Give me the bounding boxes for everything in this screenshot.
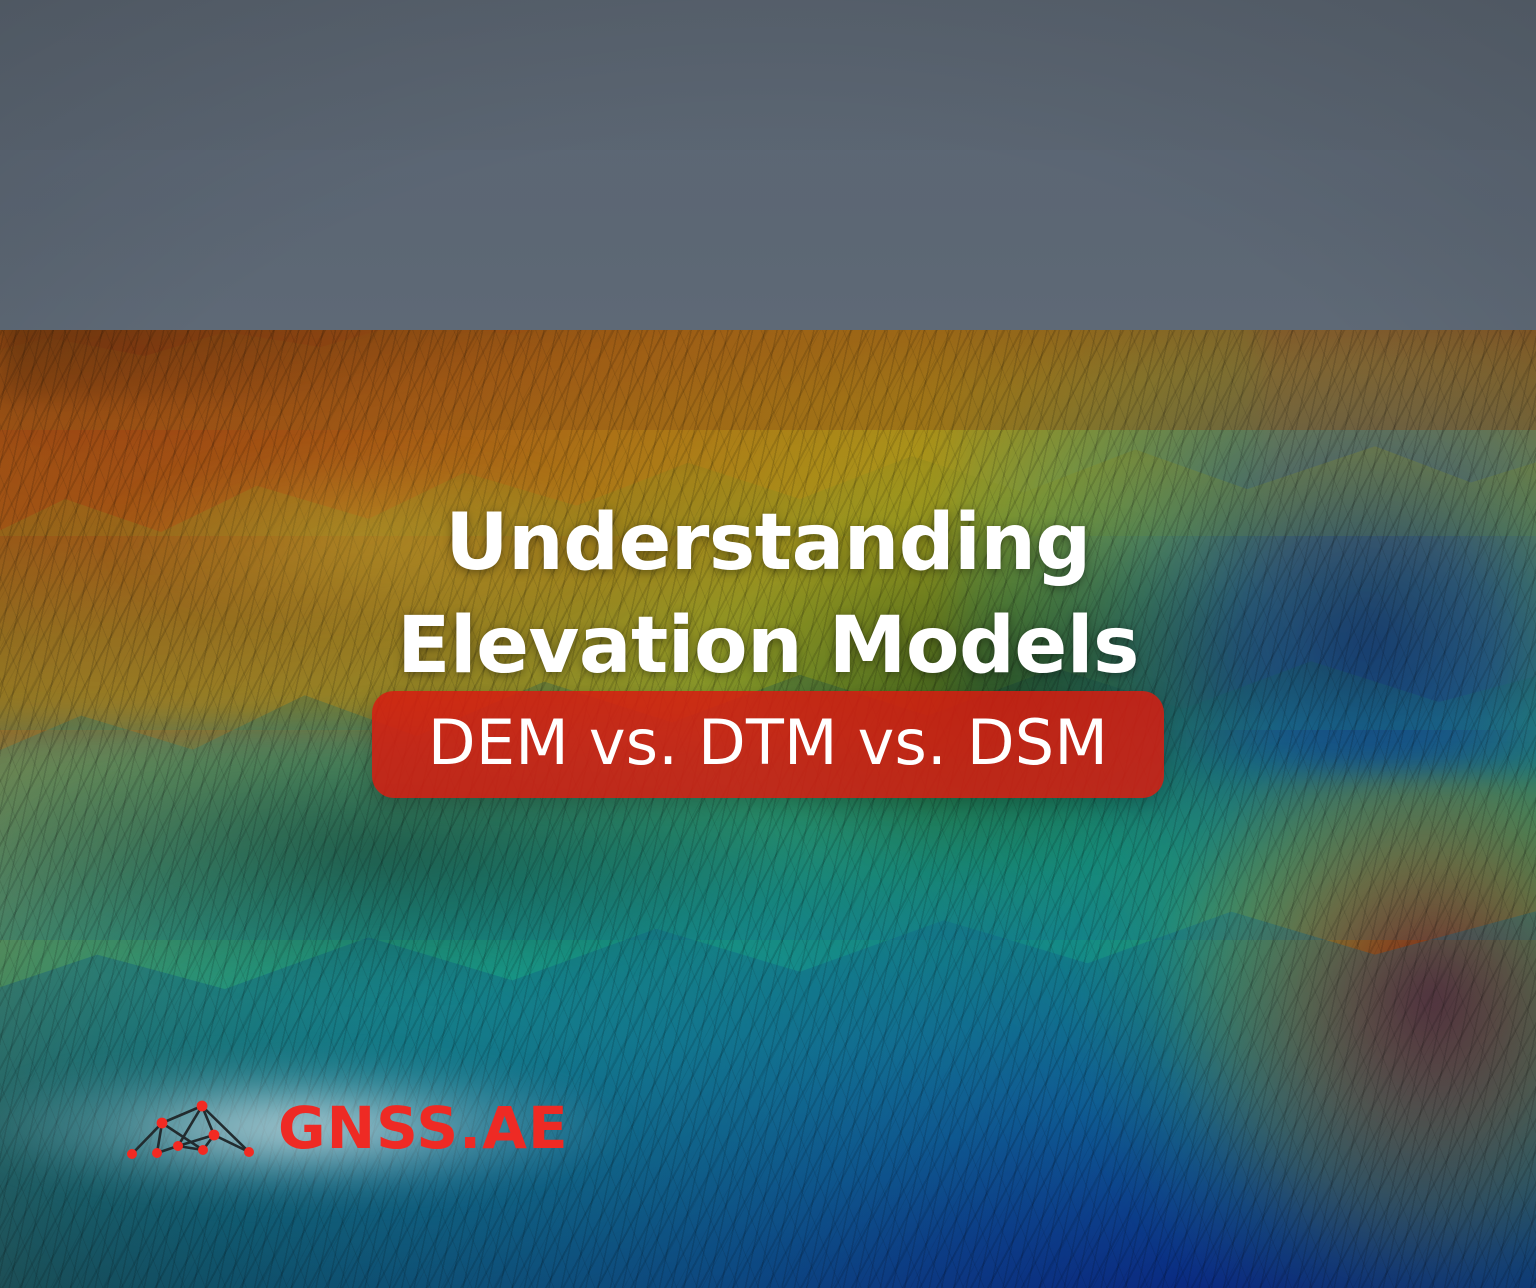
brand-name: GNSS.AE [278,1099,569,1157]
tin-triangulated-network-icon [124,1092,260,1164]
status-badge: DEM vs. DTM vs. DSM [372,691,1164,798]
poster-content: Understanding Elevation Models DEM vs. D… [0,0,1536,1288]
brand-lockup[interactable]: GNSS.AE [124,1092,569,1164]
page-title: Understanding Elevation Models [0,492,1536,698]
subtitle-badge-row: DEM vs. DTM vs. DSM [0,691,1536,798]
poster-canvas: Understanding Elevation Models DEM vs. D… [0,0,1536,1288]
